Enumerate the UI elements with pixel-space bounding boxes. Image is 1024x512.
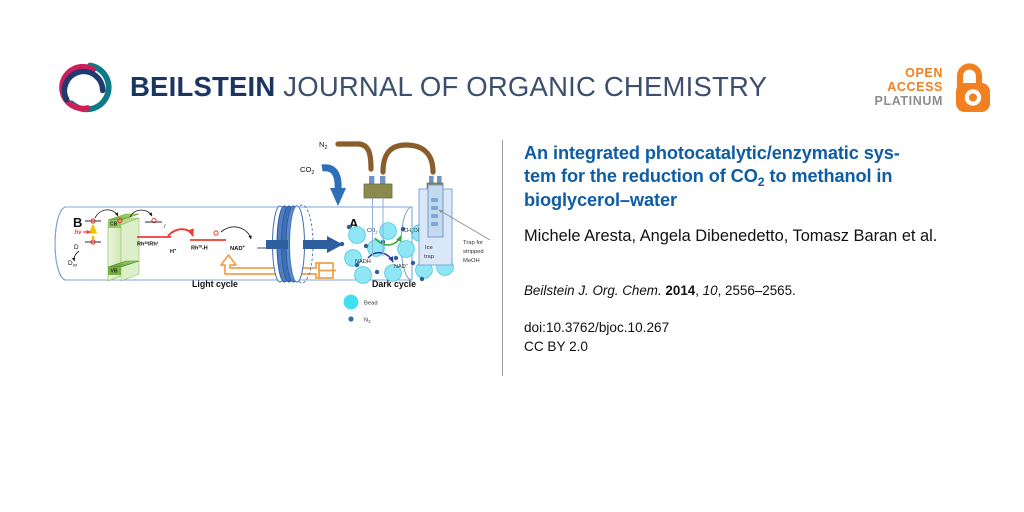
reactor-schematic-svg: B CB VB — [44, 132, 504, 347]
brand-lockup[interactable]: BEILSTEIN JOURNAL OF ORGANIC CHEMISTRY — [54, 56, 767, 118]
legend-bead-swatch — [344, 295, 359, 310]
oa-line-access: ACCESS — [887, 80, 943, 94]
brand-name-rest: JOURNAL OF ORGANIC CHEMISTRY — [275, 71, 767, 102]
article-doi[interactable]: doi:10.3762/bjoc.10.267 — [524, 318, 976, 337]
legend-n2-swatch — [348, 316, 353, 321]
brand-name-bold: BEILSTEIN — [130, 71, 275, 102]
citation-volume: 10 — [703, 283, 718, 298]
panel-b-label: B — [73, 215, 82, 230]
citation-pages: 2556–2565. — [725, 283, 796, 298]
light-cycle-label: Light cycle — [192, 279, 238, 289]
article-authors: Michele Aresta, Angela Dibenedetto, Toma… — [524, 226, 976, 248]
trap-note-line1: Trap for — [463, 240, 483, 246]
legend-n2-label: N2 — [364, 318, 371, 325]
trap-note-line3: MeOH — [463, 258, 480, 264]
open-access-text: OPEN ACCESS PLATINUM — [875, 66, 943, 108]
dark-nadh-label: NADH — [355, 259, 371, 265]
article-citation: Beilstein J. Org. Chem. 2014, 10, 2556–2… — [524, 282, 976, 300]
legend-bead-label: Bead — [364, 301, 378, 307]
article-metadata: An integrated photocatalytic/enzymatic s… — [524, 142, 976, 356]
co2-inlet-label: CO2 — [300, 165, 314, 176]
n2-inlet-label: N2 — [319, 140, 327, 151]
title-co2-subscript: 2 — [758, 175, 765, 189]
rh-couple-label: RhIII/RhI — [137, 240, 158, 248]
beilstein-ring-logo-icon — [54, 58, 112, 116]
conduction-band-label: CB — [110, 221, 118, 227]
article-card: BEILSTEIN JOURNAL OF ORGANIC CHEMISTRY O… — [0, 0, 1024, 512]
valence-band-label: VB — [111, 269, 118, 275]
open-access-badge[interactable]: OPEN ACCESS PLATINUM — [875, 57, 996, 117]
title-line-2-pre: tem for the reduction of CO — [524, 166, 758, 186]
article-license[interactable]: CC BY 2.0 — [524, 337, 976, 356]
article-doi-block: doi:10.3762/bjoc.10.267 CC BY 2.0 — [524, 318, 976, 357]
photon-label: hν — [75, 230, 83, 236]
n2-tubing — [338, 144, 371, 169]
page-header: BEILSTEIN JOURNAL OF ORGANIC CHEMISTRY O… — [0, 0, 1024, 135]
oa-line-open: OPEN — [905, 66, 943, 80]
oa-line-platinum: PLATINUM — [875, 94, 943, 108]
brand-wordmark: BEILSTEIN JOURNAL OF ORGANIC CHEMISTRY — [130, 73, 767, 101]
head-connector-block — [364, 184, 392, 198]
ice-trap-label-line2: trap — [424, 254, 434, 260]
trap-note-line2: stripped — [463, 249, 484, 255]
co2-feed-arrow — [330, 188, 346, 206]
citation-sep-2: , — [695, 283, 702, 298]
title-line-3: bioglycerol–water — [524, 190, 677, 210]
semiconductor-block: CB VB — [108, 214, 139, 281]
citation-sep-3: , — [718, 283, 725, 298]
donor-label: D — [74, 244, 79, 251]
citation-journal: Beilstein J. Org. Chem. — [524, 283, 662, 298]
open-lock-icon — [950, 61, 996, 113]
title-line-1: An integrated photocatalytic/enzymatic s… — [524, 143, 900, 163]
ice-trap-label-line1: Ice — [425, 245, 433, 251]
ice-trap-assembly: Ice trap Trap for stripped MeOH — [419, 176, 490, 265]
citation-year: 2014 — [665, 283, 695, 298]
outlet-tubing — [383, 145, 433, 172]
dark-cycle-label: Dark cycle — [372, 279, 416, 289]
article-figure[interactable]: B CB VB — [44, 132, 504, 347]
article-title[interactable]: An integrated photocatalytic/enzymatic s… — [524, 142, 976, 212]
figure-legend: Bead N2 — [344, 295, 378, 325]
title-line-2-post: to methanol in — [765, 166, 893, 186]
